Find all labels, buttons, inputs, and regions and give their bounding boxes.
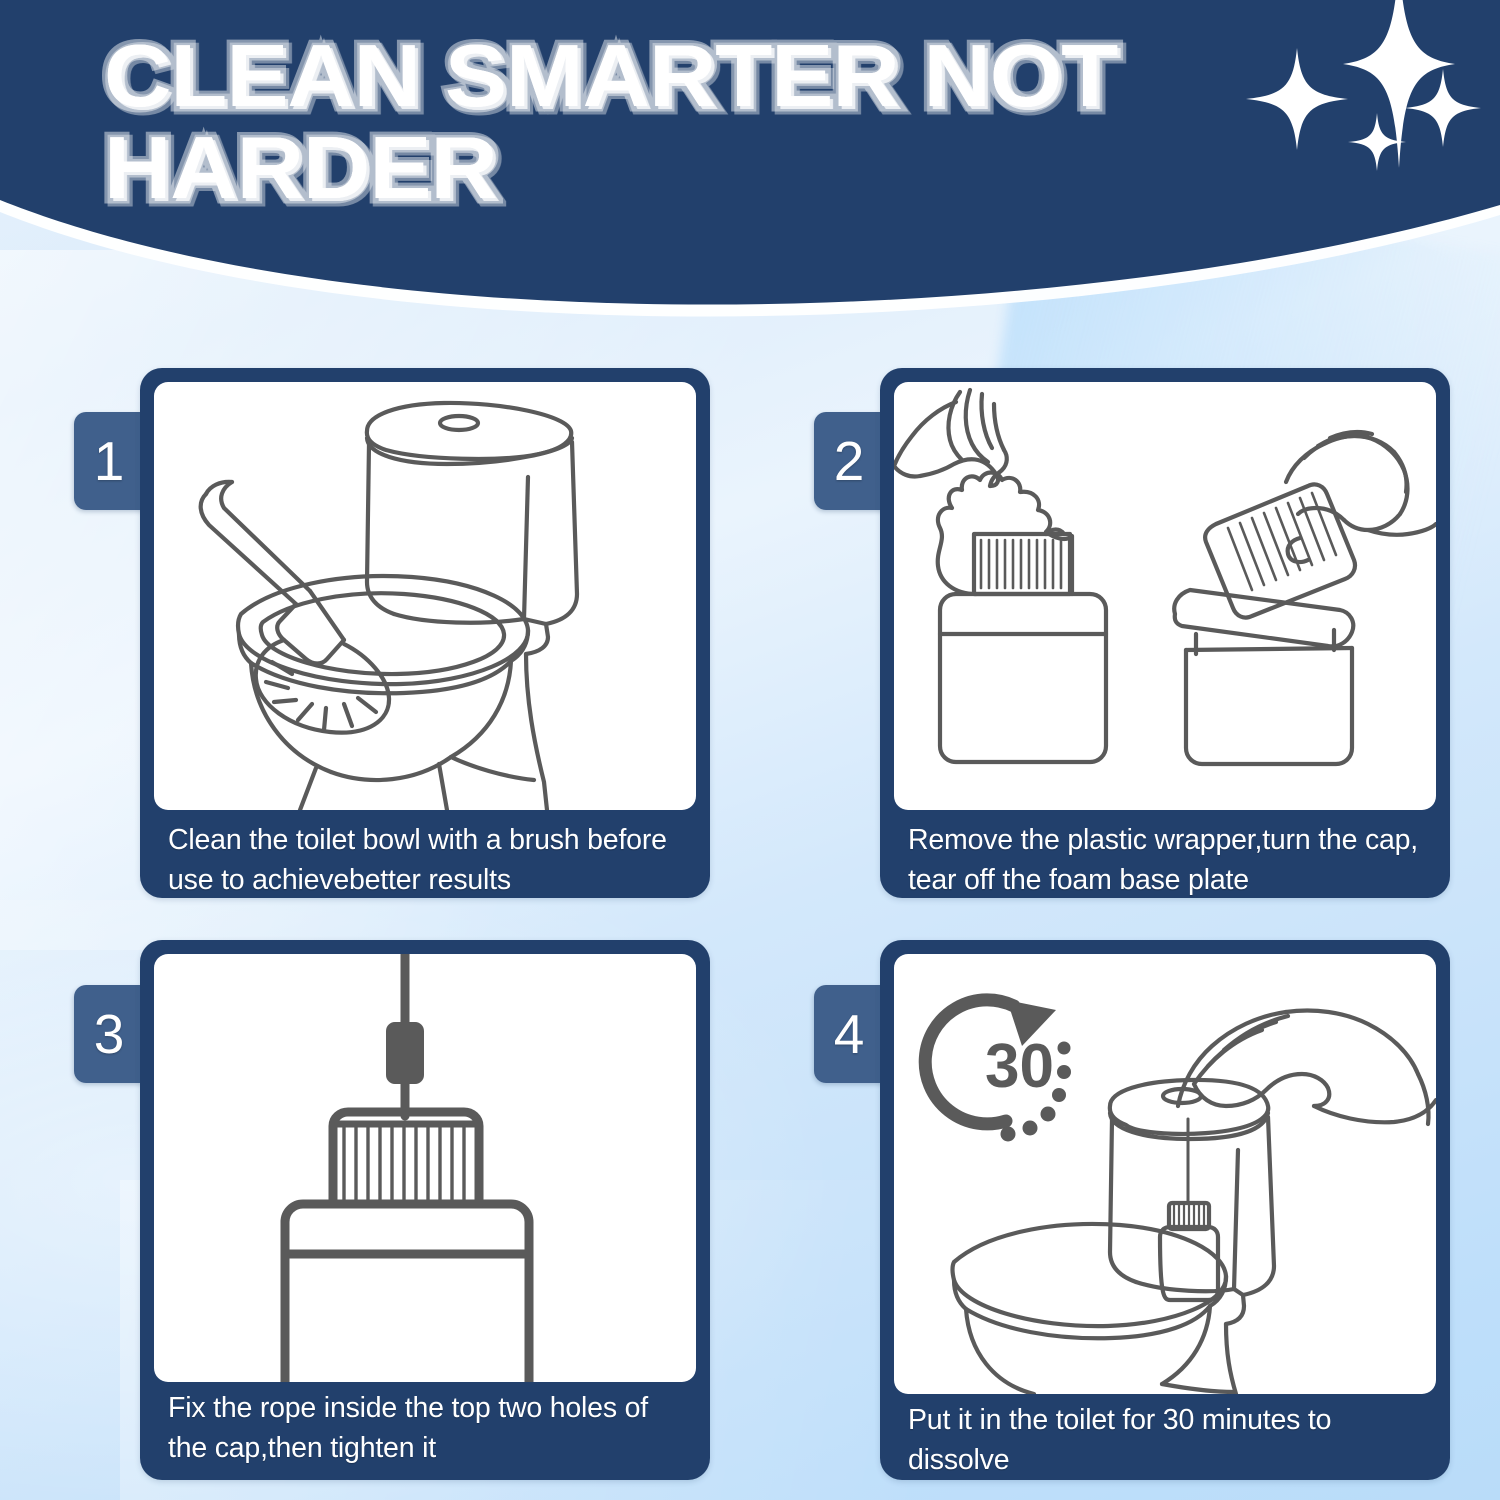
bottle-with-rope-illustration xyxy=(154,954,696,1382)
step-number-4: 4 xyxy=(834,1002,865,1066)
step-badge-2: 2 xyxy=(814,412,888,510)
step-caption-1: Clean the toilet bowl with a brush befor… xyxy=(140,820,710,900)
step-illustration-2 xyxy=(894,382,1436,810)
step-card-4[interactable]: 30 xyxy=(880,940,1450,1480)
timer-30-icon: 30 xyxy=(925,1000,1071,1142)
step-illustration-1 xyxy=(154,382,696,810)
step-caption-2: Remove the plastic wrapper,turn the cap,… xyxy=(880,820,1450,900)
infographic-page: CLEAN SMARTER NOT HARDER 1 xyxy=(0,0,1500,1500)
step-badge-4: 4 xyxy=(814,985,888,1083)
step-badge-3: 3 xyxy=(74,985,148,1083)
step-number-3: 3 xyxy=(94,1002,125,1066)
step-card-2[interactable]: Remove the plastic wrapper,turn the cap,… xyxy=(880,368,1450,898)
step-caption-4: Put it in the toilet for 30 minutes to d… xyxy=(880,1400,1450,1480)
step-card-1[interactable]: Clean the toilet bowl with a brush befor… xyxy=(140,368,710,898)
step-number-2: 2 xyxy=(834,429,865,493)
steps-grid: 1 xyxy=(0,0,1500,1500)
step-illustration-3 xyxy=(154,954,696,1382)
step-caption-3: Fix the rope inside the top two holes of… xyxy=(140,1388,710,1468)
rope-toggle-icon xyxy=(388,1024,422,1082)
step-card-3[interactable]: Fix the rope inside the top two holes of… xyxy=(140,940,710,1480)
timer-value: 30 xyxy=(985,1032,1054,1101)
toilet-tank-hanging-bottle-illustration: 30 xyxy=(894,954,1436,1394)
step-illustration-4: 30 xyxy=(894,954,1436,1394)
step-badge-1: 1 xyxy=(74,412,148,510)
toilet-with-brush-illustration xyxy=(154,382,696,810)
step-number-1: 1 xyxy=(94,429,125,493)
bottle-unwrap-and-turn-cap-illustration xyxy=(894,382,1436,810)
